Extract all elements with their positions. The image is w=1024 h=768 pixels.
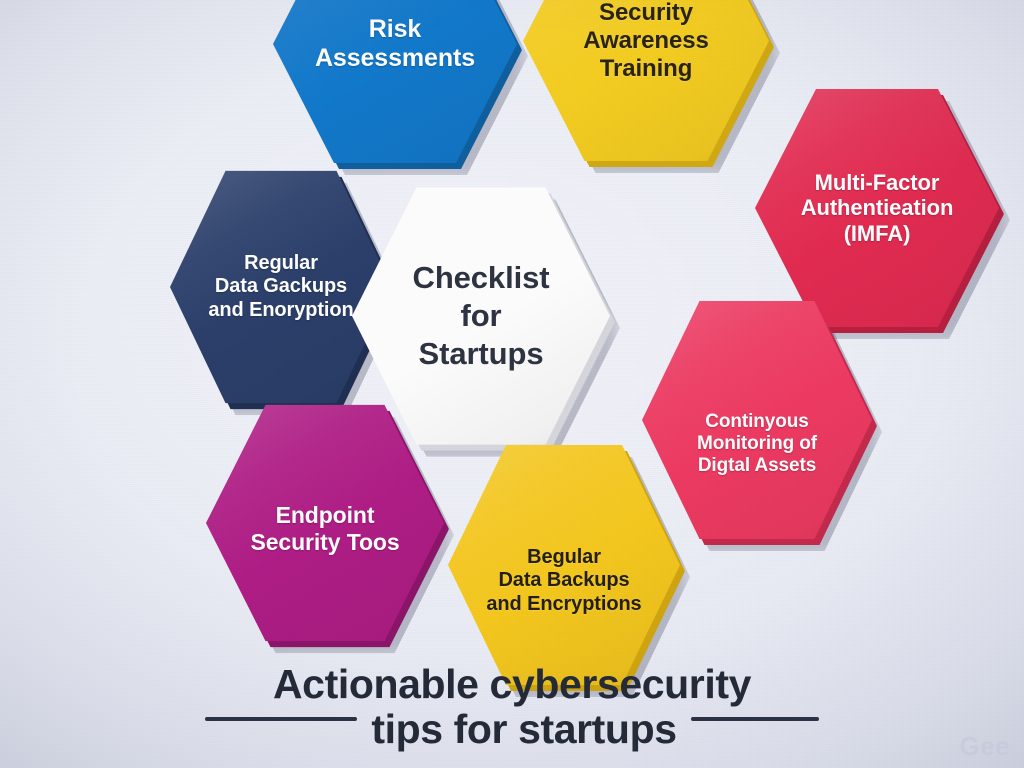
caption-block: Actionable cybersecurity tips for startu… bbox=[0, 664, 1024, 750]
hexagon-label-regular-data-backups-encryption: Regular Data Gackups and Enoryption bbox=[204, 252, 358, 322]
hex-line: Regular bbox=[244, 252, 318, 274]
caption-line-2-row: tips for startups bbox=[0, 709, 1024, 750]
hex-line: Monitoring of bbox=[697, 433, 817, 454]
infographic-canvas: Risk Assessments Security Awareness Trai… bbox=[0, 0, 1024, 768]
caption-line-1: Actionable cybersecurity bbox=[0, 664, 1024, 705]
hex-line: Training bbox=[600, 55, 693, 82]
hexagon-label-security-awareness-training: Security Awareness Training bbox=[564, 0, 729, 83]
hex-line: Startups bbox=[419, 336, 544, 371]
watermark: Gee bbox=[959, 731, 1010, 762]
hex-line: Multi-Factor bbox=[815, 170, 940, 195]
hex-line: for bbox=[460, 298, 501, 333]
hexagon-label-endpoint-security-tools: Endpoint Security Toos bbox=[243, 502, 406, 555]
hex-line: (IMFA) bbox=[844, 221, 911, 246]
hexagon-label-risk-assessments: Risk Assessments bbox=[295, 15, 494, 73]
caption-rule-right bbox=[691, 717, 819, 721]
hex-line: Data Gackups bbox=[215, 275, 347, 297]
hexagon-label-continuous-monitoring-digital-assets: Continyous Monitoring of Digtal Assets bbox=[692, 411, 821, 477]
hex-line: Awareness bbox=[583, 27, 708, 54]
hex-line: Begular bbox=[527, 546, 601, 568]
hex-line: Data Backups bbox=[498, 569, 629, 591]
hexagon-label-regular-data-backups-encryptions: Begular Data Backups and Encryptions bbox=[484, 546, 644, 616]
hex-line: Endpoint bbox=[276, 502, 375, 528]
hex-line: Digtal Assets bbox=[698, 455, 816, 476]
hexagon-label-center-checklist: Checklist for Startups bbox=[392, 259, 570, 372]
caption-rule-left bbox=[205, 717, 357, 721]
hex-line: Risk bbox=[369, 15, 421, 43]
hex-line: Security bbox=[599, 0, 693, 26]
hexagon-label-multi-factor-authentication: Multi-Factor Authentieation (IMFA) bbox=[791, 170, 963, 247]
hex-line: Checklist bbox=[413, 260, 550, 295]
hex-line: Security Toos bbox=[250, 529, 399, 555]
hex-line: Continyous bbox=[705, 411, 809, 432]
hex-line: and Encryptions bbox=[486, 593, 641, 615]
hex-line: Assessments bbox=[315, 44, 475, 72]
hex-line: Authentieation bbox=[801, 195, 954, 220]
caption-line-2: tips for startups bbox=[371, 709, 676, 750]
hex-line: and Enoryption bbox=[208, 299, 353, 321]
